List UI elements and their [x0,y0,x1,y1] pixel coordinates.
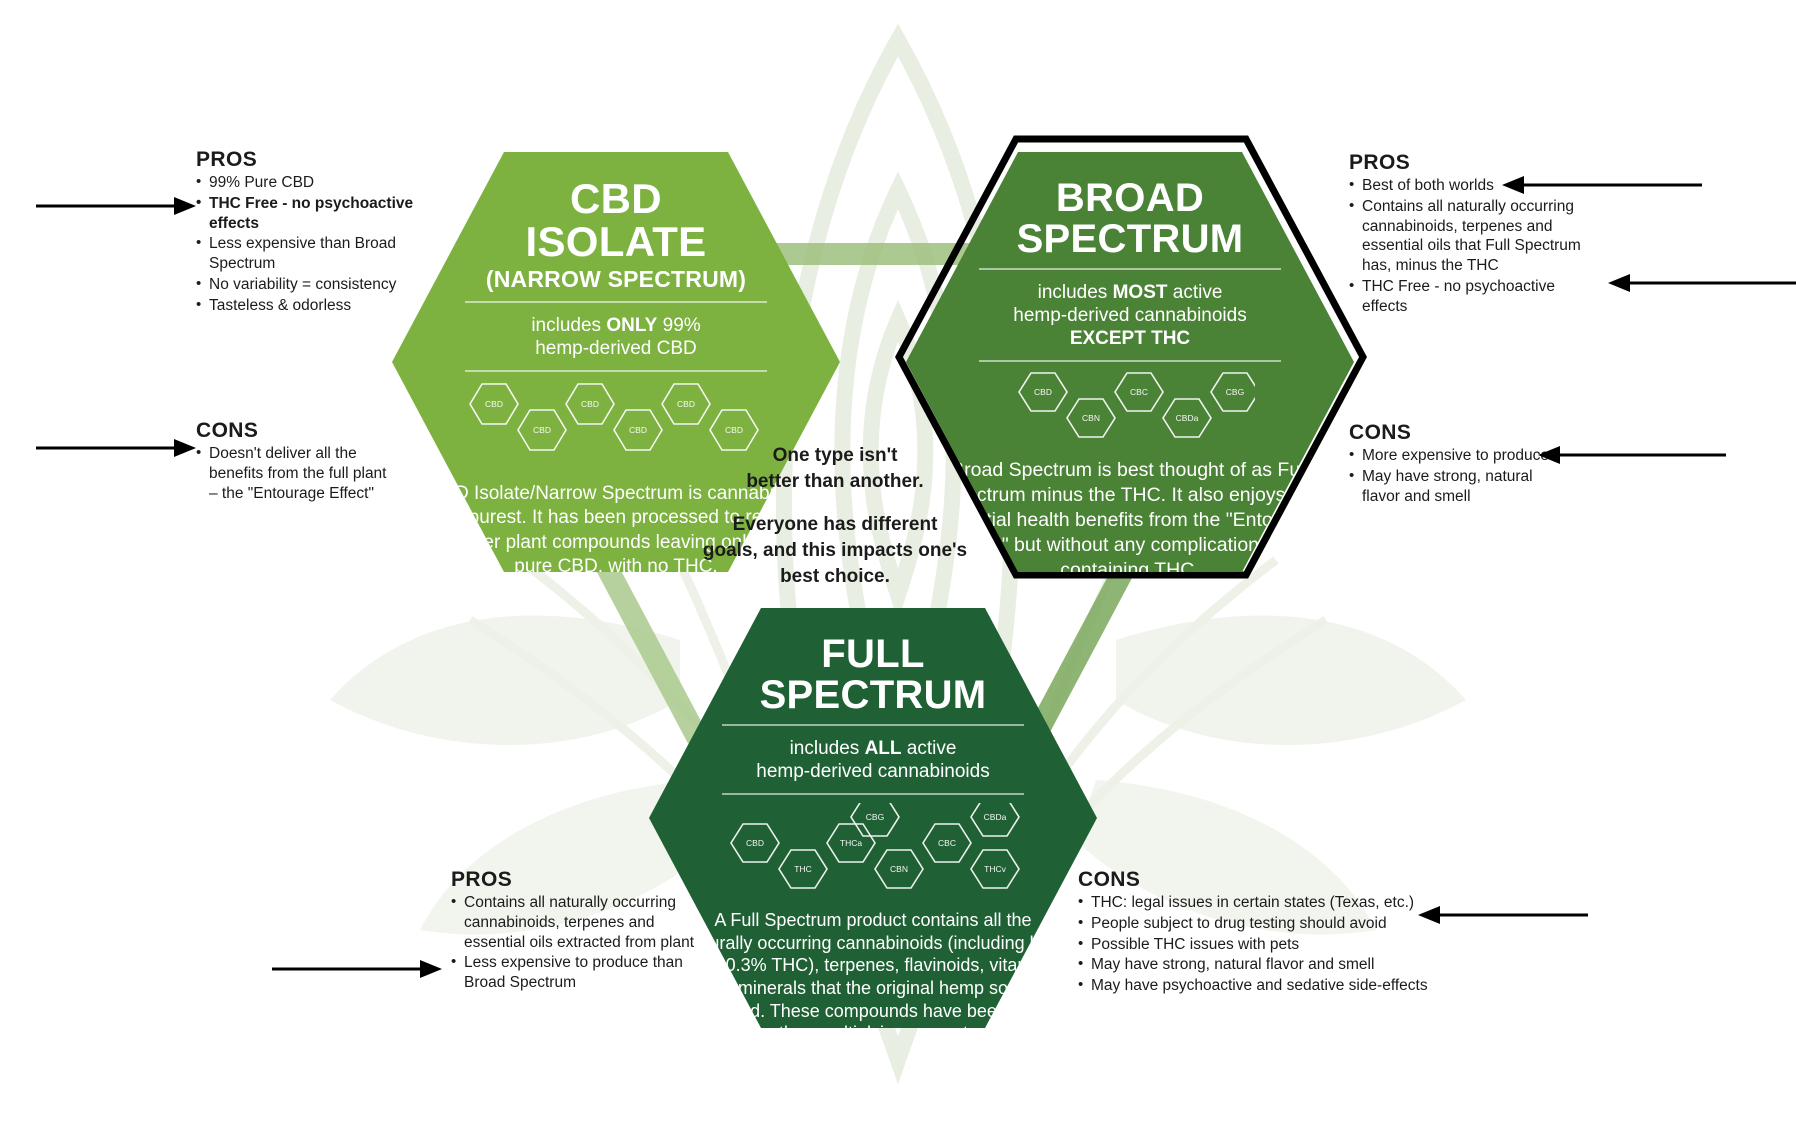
list-item: Contains all naturally occurring cannabi… [1349,197,1594,276]
pros-heading: PROS [451,868,701,892]
list-item: Possible THC issues with pets [1078,935,1453,955]
pros-list: 99% Pure CBDTHC Free - no psychoactive e… [196,173,456,316]
full-title-line1: FULL [697,634,1049,675]
arrow-broad-cons [1538,444,1726,466]
full-includes-post: active [902,738,957,759]
svg-text:CBC: CBC [1130,387,1148,397]
list-item: Doesn't deliver all the benefits from th… [196,444,396,503]
arrow-broad-pros-1 [1502,174,1702,196]
list-item: No variability = consistency [196,275,456,295]
svg-text:CBDa: CBDa [984,812,1007,822]
pros-block-cbd-isolate: PROS 99% Pure CBDTHC Free - no psychoact… [196,148,456,317]
divider-top [722,724,1025,726]
svg-text:CBN: CBN [1082,413,1100,423]
svg-text:CBG: CBG [866,812,884,822]
list-item: More expensive to produce [1349,446,1564,466]
divider-bottom [722,793,1025,795]
broad-includes-post: active [1167,282,1222,303]
svg-text:CBD: CBD [725,425,743,435]
cons-block-cbd-isolate: CONS Doesn't deliver all the benefits fr… [196,419,396,504]
pros-heading: PROS [1349,151,1594,175]
pros-list: Contains all naturally occurring cannabi… [451,893,701,993]
svg-text:CBD: CBD [629,425,647,435]
cons-block-full-spectrum: CONS THC: legal issues in certain states… [1078,868,1453,997]
divider-bottom [465,370,768,372]
arrow-full-cons [1418,904,1588,926]
isolate-includes-pre: includes [531,315,606,336]
svg-text:CBN: CBN [890,864,908,874]
infographic-canvas: CBD ISOLATE (NARROW SPECTRUM) includes O… [0,0,1796,1126]
isolate-includes-bold: ONLY [606,315,657,336]
full-includes: includes ALL active hemp-derived cannabi… [697,734,1049,785]
center-note-line4: goals, and this impacts one's [700,538,970,564]
cons-heading: CONS [196,419,396,443]
molecule-chain-full: CBD THC THCa CBG CBN CBC THCv CBDa [723,803,1023,895]
list-item: Less expensive to produce than Broad Spe… [451,953,701,993]
full-includes-line2: hemp-derived cannabinoids [697,760,1049,783]
broad-includes-bold: MOST [1113,282,1168,303]
isolate-title-line2: ISOLATE [440,221,792,264]
svg-text:THCv: THCv [984,864,1006,874]
list-item: THC Free - no psychoactive effects [1349,277,1594,317]
svg-text:THCa: THCa [840,838,862,848]
broad-title-line2: SPECTRUM [954,219,1306,260]
svg-text:CBD: CBD [533,425,551,435]
full-description: A Full Spectrum product contains all the… [649,895,1097,1068]
broad-title-line1: BROAD [954,178,1306,219]
full-includes-bold: ALL [865,738,902,759]
svg-text:CBG: CBG [1226,387,1244,397]
full-includes-pre: includes [790,738,865,759]
arrow-broad-pros-2 [1608,272,1796,294]
list-item: People subject to drug testing should av… [1078,914,1453,934]
list-item: THC Free - no psychoactive effects [196,194,456,234]
broad-includes-line3: EXCEPT THC [1070,328,1190,349]
svg-text:THC: THC [794,864,811,874]
divider-bottom [979,360,1282,362]
pros-list: Best of both worldsContains all naturall… [1349,176,1594,317]
divider-top [465,301,768,303]
center-note-line3: Everyone has different [700,512,970,538]
svg-text:CBC: CBC [938,838,956,848]
arrow-isolate-cons [36,437,196,459]
cons-list: Doesn't deliver all the benefits from th… [196,444,396,503]
arrow-isolate-pros [36,195,196,217]
svg-text:CBD: CBD [1034,387,1052,397]
broad-includes-pre: includes [1038,282,1113,303]
cons-list: More expensive to produceMay have strong… [1349,446,1564,506]
svg-text:CBD: CBD [581,399,599,409]
isolate-title-line1: CBD [440,178,792,221]
cons-heading: CONS [1349,421,1564,445]
list-item: Contains all naturally occurring cannabi… [451,893,701,952]
list-item: THC: legal issues in certain states (Tex… [1078,893,1453,913]
svg-text:CBD: CBD [746,838,764,848]
list-item: Tasteless & odorless [196,296,456,316]
list-item: 99% Pure CBD [196,173,456,193]
cons-heading: CONS [1078,868,1453,892]
cons-block-broad-spectrum: CONS More expensive to produceMay have s… [1349,421,1564,507]
center-note-line2: better than another. [700,469,970,495]
svg-text:CBD: CBD [485,399,503,409]
molecule-chain-broad: CBD CBN CBC CBDa CBG [1005,370,1255,442]
broad-includes: includes MOST active hemp-derived cannab… [954,278,1306,353]
list-item: Less expensive than Broad Spectrum [196,234,456,274]
card-full-spectrum[interactable]: FULL SPECTRUM includes ALL active hemp-d… [649,608,1097,1028]
svg-text:CBD: CBD [677,399,695,409]
list-item: May have psychoactive and sedative side-… [1078,976,1453,996]
pros-block-full-spectrum: PROS Contains all naturally occurring ca… [451,868,701,994]
pros-heading: PROS [196,148,456,172]
center-note-line1: One type isn't [700,443,970,469]
svg-text:CBDa: CBDa [1176,413,1199,423]
divider-top [979,268,1282,270]
arrow-full-pros [272,958,442,980]
list-item: May have strong, natural flavor and smel… [1349,467,1564,507]
center-note-line5: best choice. [700,564,970,590]
isolate-subtitle: (NARROW SPECTRUM) [440,266,792,293]
isolate-includes-line2: hemp-derived CBD [440,337,792,360]
isolate-includes: includes ONLY 99% hemp-derived CBD [440,311,792,362]
center-note: One type isn't better than another. Ever… [700,443,970,589]
list-item: May have strong, natural flavor and smel… [1078,955,1453,975]
cons-list: THC: legal issues in certain states (Tex… [1078,893,1453,996]
isolate-includes-post: 99% [657,315,700,336]
broad-includes-line2: hemp-derived cannabinoids [954,304,1306,327]
full-title-line2: SPECTRUM [697,675,1049,716]
